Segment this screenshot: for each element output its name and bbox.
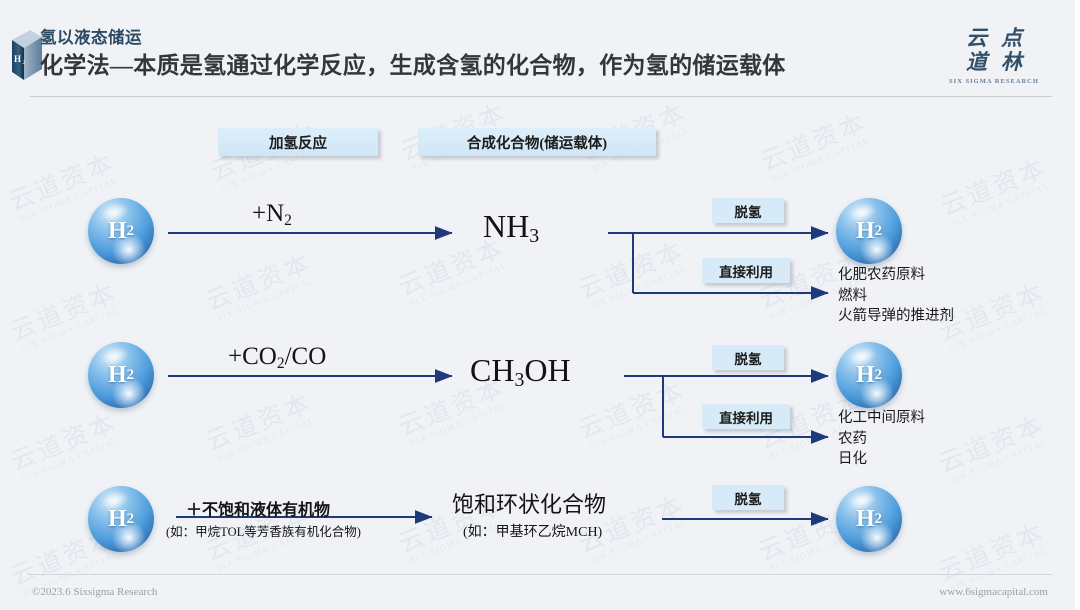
column-label-compound: 合成化合物(储运载体)	[418, 128, 656, 156]
product-formula-row1: NH3	[483, 208, 539, 248]
branch-label-row1-direct-use: 直接利用	[702, 258, 790, 283]
h2-sphere-row3-source-label: H2	[88, 486, 154, 552]
column-label-hydrogenation: 加氢反应	[218, 128, 378, 156]
column-label-compound-text: 合成化合物(储运载体)	[467, 132, 607, 153]
slide-canvas: 云道资本SIX SIGMA CAPITAL云道资本SIX SIGMA CAPIT…	[0, 0, 1080, 610]
reaction-label-row2: +CO2/CO	[228, 343, 326, 373]
svg-text:H: H	[14, 54, 21, 64]
reaction-label-row1: +N2	[252, 200, 292, 230]
product-formula-row2: CH3OH	[470, 352, 571, 392]
branch-label-row1-dehydrogenation: 脱氢	[712, 198, 784, 223]
header-eyebrow: 氢以液态储运	[40, 28, 786, 48]
footer-divider	[28, 574, 1052, 575]
brand-line-2: 道 林	[946, 50, 1042, 74]
brand-char-dian: 点	[1001, 26, 1022, 50]
outcome-list-row1: 化肥农药原料 燃料 火箭导弹的推进剂	[838, 265, 954, 327]
slide-header: H 2 氢以液态储运 化学法—本质是氢通过化学反应，生成含氢的化合物，作为氢的储…	[0, 0, 1080, 104]
product-note-row3: (如：甲基环乙烷MCH)	[463, 521, 602, 541]
h2-sphere-row1-result: H2	[836, 198, 902, 264]
brand-tagline: SIX SIGMA RESEARCH	[946, 78, 1042, 85]
brand-char-lin: 林	[1001, 50, 1022, 74]
list-item: 化工中间原料	[838, 408, 925, 429]
header-divider	[30, 96, 1052, 97]
brand-logo: 云 点 道 林 SIX SIGMA RESEARCH	[946, 26, 1042, 85]
h2-sphere-row3-source: H2	[88, 486, 154, 552]
product-formula-row3: 饱和环状化合物	[452, 487, 606, 519]
brand-char-dao: 道	[966, 50, 987, 74]
slide-footer: ©2023.6 Sixsigma Research www.6sigmacapi…	[0, 574, 1080, 610]
h2-sphere-row1-source: H2	[88, 198, 154, 264]
h2-sphere-row1-source-label: H2	[88, 198, 154, 264]
h2-sphere-row2-result: H2	[836, 342, 902, 408]
h2-sphere-row2-result-label: H2	[836, 342, 902, 408]
reaction-note-row3: (如：甲烷TOL等芳香族有机化合物)	[166, 521, 361, 540]
h2-sphere-row1-result-label: H2	[836, 198, 902, 264]
branch-label-row3-dehydrogenation: 脱氢	[712, 485, 784, 510]
outcome-list-row2: 化工中间原料 农药 日化	[838, 408, 925, 470]
branch-label-row2-direct-use: 直接利用	[702, 404, 790, 429]
list-item: 农药	[838, 429, 925, 450]
slide-right-edge	[1075, 0, 1080, 610]
page-title: 化学法—本质是氢通过化学反应，生成含氢的化合物，作为氢的储运载体	[40, 52, 786, 81]
h2-sphere-row3-result-label: H2	[836, 486, 902, 552]
h2-sphere-row3-result: H2	[836, 486, 902, 552]
list-item: 化肥农药原料	[838, 265, 954, 286]
brand-char-yun: 云	[966, 26, 987, 50]
h2-sphere-row2-source: H2	[88, 342, 154, 408]
reaction-label-row3: ＋不饱和液体有机物	[186, 496, 330, 520]
svg-text:2: 2	[23, 60, 26, 66]
list-item: 燃料	[838, 286, 954, 307]
footer-copyright: ©2023.6 Sixsigma Research	[32, 586, 157, 598]
list-item: 日化	[838, 449, 925, 470]
list-item: 火箭导弹的推进剂	[838, 306, 954, 327]
column-label-hydrogenation-text: 加氢反应	[269, 132, 327, 153]
branch-label-row2-dehydrogenation: 脱氢	[712, 345, 784, 370]
h2-sphere-row2-source-label: H2	[88, 342, 154, 408]
title-block: 氢以液态储运 化学法—本质是氢通过化学反应，生成含氢的化合物，作为氢的储运载体	[40, 28, 786, 81]
footer-website[interactable]: www.6sigmacapital.com	[939, 586, 1048, 598]
brand-line-1: 云 点	[946, 26, 1042, 50]
